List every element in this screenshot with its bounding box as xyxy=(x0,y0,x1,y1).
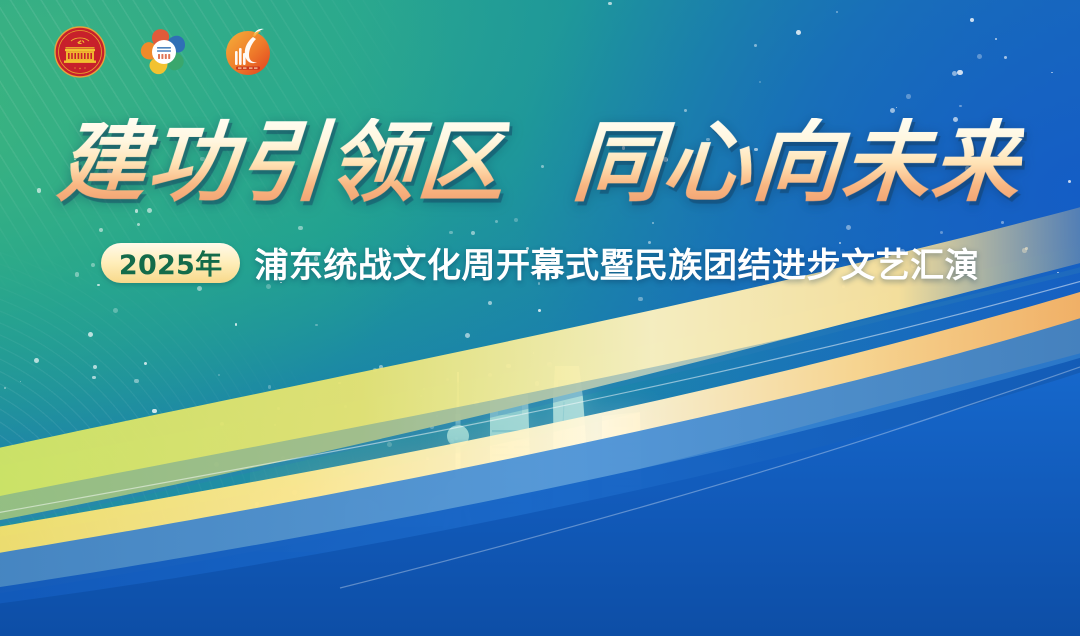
cpc-emblem-icon xyxy=(52,24,108,80)
year-badge: 2025年 xyxy=(101,243,241,283)
poster-canvas: 建功引领区 同心向未来 2025年 浦东统战文化周开幕式暨民族团结进步文艺汇演 xyxy=(0,0,1080,636)
background-green-wash xyxy=(0,0,1080,636)
subtitle-row: 2025年 浦东统战文化周开幕式暨民族团结进步文艺汇演 xyxy=(0,238,1080,287)
united-front-pinwheel-emblem-icon xyxy=(136,24,192,80)
emblem-row xyxy=(52,24,276,80)
pudong-culture-emblem-icon xyxy=(220,24,276,80)
subtitle-text: 浦东统战文化周开幕式暨民族团结进步文艺汇演 xyxy=(254,238,979,287)
